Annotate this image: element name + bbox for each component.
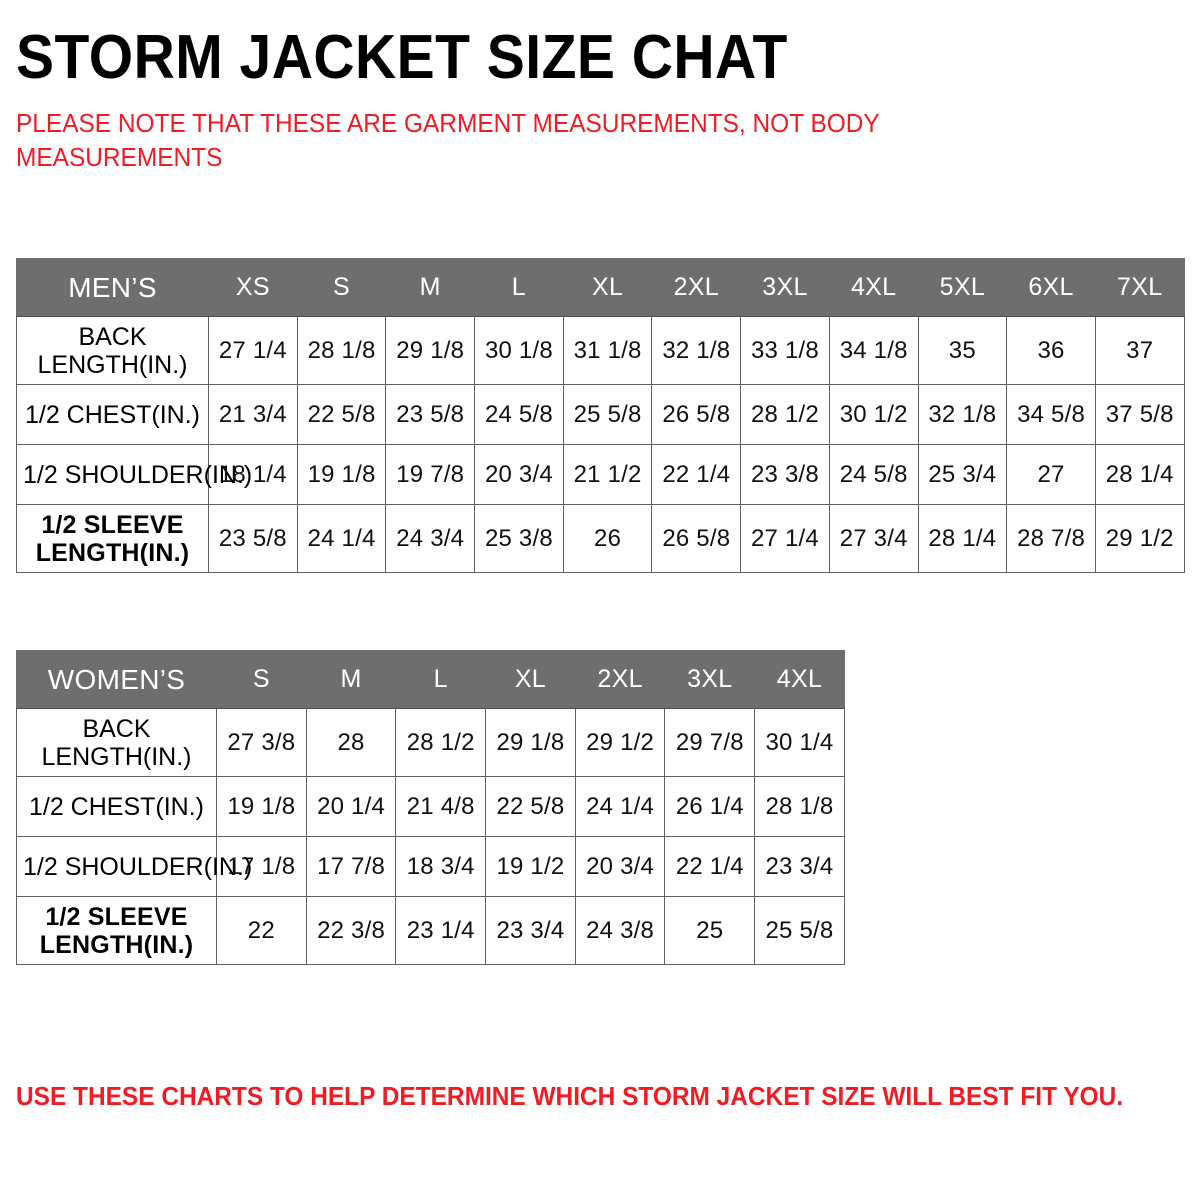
measurement-value: 19 1/8 — [227, 793, 295, 820]
measurement-value: 28 1/8 — [308, 337, 376, 364]
measurement-value: 23 1/4 — [407, 917, 475, 944]
mens-size-table: MEN’SXSSMLXL2XL3XL4XL5XL6XL7XL BACKLENGT… — [16, 258, 1185, 573]
measurement-cell: 23 5/8 — [209, 505, 298, 573]
measurement-value: 34 5/8 — [1017, 401, 1085, 428]
measurement-cell: 28 — [306, 709, 396, 777]
measurement-cell: 24 3/8 — [575, 897, 665, 965]
size-column-header-xs: XS — [209, 259, 298, 317]
measurement-cell: 29 1/2 — [575, 709, 665, 777]
size-column-header-3xl: 3XL — [665, 651, 755, 709]
table-row: BACKLENGTH(IN.)27 3/82828 1/229 1/829 1/… — [17, 709, 845, 777]
measurement-value: 26 5/8 — [662, 525, 730, 552]
measurement-cell: 19 1/2 — [486, 837, 576, 897]
mens-table-corner-header: MEN’S — [17, 259, 209, 317]
measurement-cell: 28 1/8 — [755, 777, 845, 837]
measurement-cell: 25 3/8 — [475, 505, 564, 573]
measurement-row-label-line: BACK — [23, 715, 210, 743]
measurement-value: 28 1/4 — [928, 525, 996, 552]
measurement-value: 19 7/8 — [396, 461, 464, 488]
measurement-value: 23 5/8 — [219, 525, 287, 552]
measurement-cell: 27 — [1007, 445, 1096, 505]
measurement-cell: 20 3/4 — [475, 445, 564, 505]
measurement-cell: 27 1/4 — [209, 317, 298, 385]
measurement-row-label: 1/2 CHEST(IN.) — [17, 777, 217, 837]
measurement-value: 20 3/4 — [485, 461, 553, 488]
measurement-row-label-line: LENGTH(IN.) — [23, 743, 210, 771]
measurement-cell: 28 1/4 — [918, 505, 1007, 573]
size-column-header-s: S — [217, 651, 307, 709]
measurement-value: 17 1/8 — [227, 853, 295, 880]
measurement-row-label: BACKLENGTH(IN.) — [17, 709, 217, 777]
measurement-cell: 24 1/4 — [297, 505, 386, 573]
measurement-value: 36 — [1037, 337, 1064, 364]
measurement-cell: 34 5/8 — [1007, 385, 1096, 445]
measurement-row-label: 1/2 SHOULDER(IN.) — [17, 445, 209, 505]
measurement-value: 32 1/8 — [662, 337, 730, 364]
measurement-cell: 26 — [563, 505, 652, 573]
measurement-value: 30 1/4 — [766, 729, 834, 756]
measurement-row-label: 1/2 SHOULDER(IN.) — [17, 837, 217, 897]
womens-table-corner-header: WOMEN’S — [17, 651, 217, 709]
table-row: 1/2 SHOULDER(IN.)18 1/419 1/819 7/820 3/… — [17, 445, 1185, 505]
measurement-cell: 27 3/4 — [829, 505, 918, 573]
measurement-cell: 28 1/2 — [741, 385, 830, 445]
measurement-value: 26 — [594, 525, 621, 552]
measurement-value: 18 1/4 — [219, 461, 287, 488]
table-row: 1/2 SHOULDER(IN.)17 1/817 7/818 3/419 1/… — [17, 837, 845, 897]
measurement-row-label: 1/2 SLEEVELENGTH(IN.) — [17, 897, 217, 965]
measurement-value: 20 3/4 — [586, 853, 654, 880]
measurement-value: 31 1/8 — [574, 337, 642, 364]
measurement-value: 30 1/8 — [485, 337, 553, 364]
measurement-cell: 32 1/8 — [652, 317, 741, 385]
measurement-cell: 32 1/8 — [918, 385, 1007, 445]
measurement-cell: 18 3/4 — [396, 837, 486, 897]
size-column-header-m: M — [386, 259, 475, 317]
table-row: 1/2 SLEEVELENGTH(IN.)2222 3/823 1/423 3/… — [17, 897, 845, 965]
measurement-cell: 30 1/4 — [755, 709, 845, 777]
measurement-cell: 23 3/4 — [486, 897, 576, 965]
measurement-cell: 25 3/4 — [918, 445, 1007, 505]
measurement-cell: 24 5/8 — [829, 445, 918, 505]
measurement-cell: 24 1/4 — [575, 777, 665, 837]
measurement-cell: 25 5/8 — [755, 897, 845, 965]
size-column-header-4xl: 4XL — [755, 651, 845, 709]
measurement-cell: 26 1/4 — [665, 777, 755, 837]
measurement-value: 29 7/8 — [676, 729, 744, 756]
measurement-value: 22 1/4 — [662, 461, 730, 488]
measurement-cell: 29 7/8 — [665, 709, 755, 777]
measurement-value: 32 1/8 — [928, 401, 996, 428]
measurement-cell: 22 — [217, 897, 307, 965]
size-column-header-7xl: 7XL — [1095, 259, 1184, 317]
measurement-value: 20 1/4 — [317, 793, 385, 820]
measurement-value: 22 — [248, 917, 275, 944]
measurement-value: 22 3/8 — [317, 917, 385, 944]
size-column-header-6xl: 6XL — [1007, 259, 1096, 317]
measurement-value: 21 3/4 — [219, 401, 287, 428]
measurement-cell: 29 1/8 — [386, 317, 475, 385]
measurement-value: 28 1/8 — [766, 793, 834, 820]
measurement-cell: 30 1/8 — [475, 317, 564, 385]
measurement-value: 23 3/4 — [766, 853, 834, 880]
measurement-row-label-line: 1/2 SHOULDER(IN.) — [23, 853, 210, 881]
measurement-value: 29 1/2 — [586, 729, 654, 756]
size-column-header-3xl: 3XL — [741, 259, 830, 317]
measurement-row-label-line: 1/2 CHEST(IN.) — [23, 793, 210, 821]
measurement-cell: 29 1/8 — [486, 709, 576, 777]
measurement-value: 28 1/2 — [407, 729, 475, 756]
womens-table-head: WOMEN’SSMLXL2XL3XL4XL — [17, 651, 845, 709]
measurement-cell: 22 1/4 — [652, 445, 741, 505]
measurement-cell: 22 3/8 — [306, 897, 396, 965]
measurement-row-label-line: 1/2 CHEST(IN.) — [23, 401, 202, 429]
measurement-value: 30 1/2 — [840, 401, 908, 428]
measurement-cell: 23 3/4 — [755, 837, 845, 897]
measurement-value: 25 3/4 — [928, 461, 996, 488]
measurement-value: 35 — [949, 337, 976, 364]
measurement-value: 25 3/8 — [485, 525, 553, 552]
measurement-value: 25 5/8 — [574, 401, 642, 428]
womens-table-body: BACKLENGTH(IN.)27 3/82828 1/229 1/829 1/… — [17, 709, 845, 965]
mens-table-body: BACKLENGTH(IN.)27 1/428 1/829 1/830 1/83… — [17, 317, 1185, 573]
measurement-cell: 25 5/8 — [563, 385, 652, 445]
measurement-row-label: 1/2 SLEEVELENGTH(IN.) — [17, 505, 209, 573]
measurement-cell: 21 1/2 — [563, 445, 652, 505]
measurement-cell: 36 — [1007, 317, 1096, 385]
measurement-cell: 19 1/8 — [217, 777, 307, 837]
table-header-row: MEN’SXSSMLXL2XL3XL4XL5XL6XL7XL — [17, 259, 1185, 317]
measurement-cell: 29 1/2 — [1095, 505, 1184, 573]
womens-size-table: WOMEN’SSMLXL2XL3XL4XL BACKLENGTH(IN.)27 … — [16, 650, 845, 965]
size-column-header-xl: XL — [563, 259, 652, 317]
measurement-value: 27 — [1037, 461, 1064, 488]
measurement-cell: 23 1/4 — [396, 897, 486, 965]
table-row: 1/2 CHEST(IN.)21 3/422 5/823 5/824 5/825… — [17, 385, 1185, 445]
measurement-row-label: 1/2 CHEST(IN.) — [17, 385, 209, 445]
measurement-cell: 23 3/8 — [741, 445, 830, 505]
measurement-value: 25 — [696, 917, 723, 944]
measurement-value: 27 3/4 — [840, 525, 908, 552]
measurement-value: 21 1/2 — [574, 461, 642, 488]
measurement-value: 24 3/8 — [586, 917, 654, 944]
measurement-cell: 21 4/8 — [396, 777, 486, 837]
measurement-value: 29 1/8 — [396, 337, 464, 364]
size-column-header-m: M — [306, 651, 396, 709]
measurement-cell: 19 7/8 — [386, 445, 475, 505]
measurement-row-label-line: BACK — [23, 323, 202, 351]
sizing-help-note: USE THESE CHARTS TO HELP DETERMINE WHICH… — [16, 1081, 1123, 1112]
measurement-value: 27 1/4 — [219, 337, 287, 364]
measurement-value: 19 1/8 — [308, 461, 376, 488]
measurement-cell: 37 5/8 — [1095, 385, 1184, 445]
measurement-value: 28 7/8 — [1017, 525, 1085, 552]
measurement-value: 27 3/8 — [227, 729, 295, 756]
measurement-value: 17 7/8 — [317, 853, 385, 880]
measurement-cell: 22 5/8 — [486, 777, 576, 837]
measurement-value: 26 1/4 — [676, 793, 744, 820]
measurement-cell: 20 3/4 — [575, 837, 665, 897]
measurement-value: 19 1/2 — [496, 853, 564, 880]
measurement-cell: 19 1/8 — [297, 445, 386, 505]
measurement-value: 22 5/8 — [496, 793, 564, 820]
measurement-value: 22 5/8 — [308, 401, 376, 428]
measurement-cell: 28 1/4 — [1095, 445, 1184, 505]
mens-size-table-block: MEN’SXSSMLXL2XL3XL4XL5XL6XL7XL BACKLENGT… — [16, 258, 1185, 573]
measurement-row-label-line: 1/2 SLEEVE — [23, 903, 210, 931]
measurement-value: 28 — [337, 729, 364, 756]
table-row: BACKLENGTH(IN.)27 1/428 1/829 1/830 1/83… — [17, 317, 1185, 385]
size-column-header-4xl: 4XL — [829, 259, 918, 317]
measurement-value: 23 3/8 — [751, 461, 819, 488]
measurement-value: 28 1/4 — [1106, 461, 1174, 488]
mens-table-head: MEN’SXSSMLXL2XL3XL4XL5XL6XL7XL — [17, 259, 1185, 317]
size-column-header-5xl: 5XL — [918, 259, 1007, 317]
measurement-cell: 18 1/4 — [209, 445, 298, 505]
garment-measurement-note: PLEASE NOTE THAT THESE ARE GARMENT MEASU… — [16, 107, 918, 174]
measurement-value: 37 5/8 — [1106, 401, 1174, 428]
size-chart-page: STORM JACKET SIZE CHAT PLEASE NOTE THAT … — [0, 0, 1200, 1200]
measurement-cell: 22 1/4 — [665, 837, 755, 897]
measurement-row-label: BACKLENGTH(IN.) — [17, 317, 209, 385]
measurement-cell: 22 5/8 — [297, 385, 386, 445]
measurement-value: 24 1/4 — [586, 793, 654, 820]
measurement-value: 25 5/8 — [766, 917, 834, 944]
measurement-row-label-line: LENGTH(IN.) — [23, 931, 210, 959]
measurement-cell: 31 1/8 — [563, 317, 652, 385]
measurement-value: 37 — [1126, 337, 1153, 364]
size-column-header-s: S — [297, 259, 386, 317]
table-row: 1/2 SLEEVELENGTH(IN.)23 5/824 1/424 3/42… — [17, 505, 1185, 573]
measurement-value: 23 3/4 — [496, 917, 564, 944]
measurement-row-label-line: 1/2 SHOULDER(IN.) — [23, 461, 202, 489]
measurement-cell: 24 5/8 — [475, 385, 564, 445]
size-column-header-2xl: 2XL — [652, 259, 741, 317]
measurement-row-label-line: 1/2 SLEEVE — [23, 511, 202, 539]
measurement-cell: 17 7/8 — [306, 837, 396, 897]
measurement-cell: 26 5/8 — [652, 385, 741, 445]
measurement-value: 18 3/4 — [407, 853, 475, 880]
measurement-cell: 28 7/8 — [1007, 505, 1096, 573]
measurement-cell: 26 5/8 — [652, 505, 741, 573]
measurement-cell: 25 — [665, 897, 755, 965]
measurement-cell: 35 — [918, 317, 1007, 385]
measurement-value: 26 5/8 — [662, 401, 730, 428]
table-header-row: WOMEN’SSMLXL2XL3XL4XL — [17, 651, 845, 709]
measurement-cell: 17 1/8 — [217, 837, 307, 897]
measurement-cell: 33 1/8 — [741, 317, 830, 385]
womens-size-table-block: WOMEN’SSMLXL2XL3XL4XL BACKLENGTH(IN.)27 … — [16, 650, 845, 965]
table-row: 1/2 CHEST(IN.)19 1/820 1/421 4/822 5/824… — [17, 777, 845, 837]
measurement-value: 24 5/8 — [485, 401, 553, 428]
measurement-value: 24 5/8 — [840, 461, 908, 488]
measurement-cell: 27 3/8 — [217, 709, 307, 777]
measurement-cell: 21 3/4 — [209, 385, 298, 445]
measurement-cell: 23 5/8 — [386, 385, 475, 445]
size-column-header-xl: XL — [486, 651, 576, 709]
measurement-value: 29 1/8 — [496, 729, 564, 756]
measurement-cell: 34 1/8 — [829, 317, 918, 385]
measurement-value: 27 1/4 — [751, 525, 819, 552]
measurement-row-label-line: LENGTH(IN.) — [23, 539, 202, 567]
measurement-value: 23 5/8 — [396, 401, 464, 428]
measurement-cell: 30 1/2 — [829, 385, 918, 445]
measurement-row-label-line: LENGTH(IN.) — [23, 351, 202, 379]
measurement-cell: 28 1/2 — [396, 709, 486, 777]
size-column-header-l: L — [475, 259, 564, 317]
size-column-header-2xl: 2XL — [575, 651, 665, 709]
measurement-cell: 28 1/8 — [297, 317, 386, 385]
measurement-value: 24 3/4 — [396, 525, 464, 552]
measurement-value: 22 1/4 — [676, 853, 744, 880]
measurement-cell: 24 3/4 — [386, 505, 475, 573]
measurement-value: 29 1/2 — [1106, 525, 1174, 552]
measurement-cell: 20 1/4 — [306, 777, 396, 837]
measurement-value: 21 4/8 — [407, 793, 475, 820]
measurement-cell: 37 — [1095, 317, 1184, 385]
measurement-value: 33 1/8 — [751, 337, 819, 364]
measurement-value: 24 1/4 — [308, 525, 376, 552]
measurement-value: 28 1/2 — [751, 401, 819, 428]
measurement-value: 34 1/8 — [840, 337, 908, 364]
size-column-header-l: L — [396, 651, 486, 709]
measurement-cell: 27 1/4 — [741, 505, 830, 573]
page-title: STORM JACKET SIZE CHAT — [16, 0, 1091, 89]
